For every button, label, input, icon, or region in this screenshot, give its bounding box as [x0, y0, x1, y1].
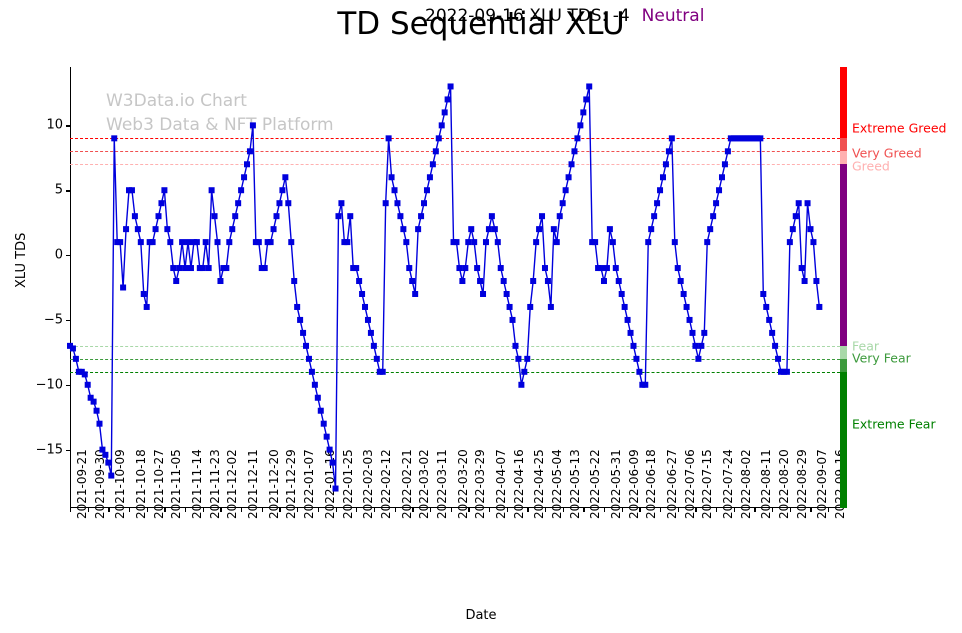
x-tick-mark — [810, 508, 811, 512]
zone-color-bar — [840, 67, 847, 508]
zone-label-extreme-greed: Extreme Greed — [852, 120, 946, 135]
x-tick-mark — [147, 508, 148, 512]
x-tick-mark — [395, 508, 396, 512]
zone-band-very-greed — [840, 138, 847, 151]
x-tick-mark — [129, 508, 130, 512]
zone-label-very-fear: Very Fear — [852, 350, 911, 365]
x-tick-mark — [279, 508, 280, 512]
x-tick-mark — [716, 508, 717, 512]
status-date-value: 2022-09-16 XLU TDS: -4 — [425, 6, 630, 26]
x-tick-mark — [828, 508, 829, 512]
status-annotation: 2022-09-16 XLU TDS: -4Neutral — [425, 6, 704, 26]
x-tick-mark — [489, 508, 490, 512]
x-tick-mark — [318, 508, 319, 512]
x-tick-mark — [70, 508, 71, 512]
zone-band-neutral — [840, 164, 847, 346]
x-tick-mark — [164, 508, 165, 512]
zone-band-extreme-fear — [840, 372, 847, 508]
zone-band-fear — [840, 346, 847, 359]
plot-area: W3Data.io Chart Web3 Data & NFT Platform… — [70, 67, 840, 508]
x-tick-mark — [622, 508, 623, 512]
x-tick-mark — [430, 508, 431, 512]
y-tick-label: 0 — [55, 248, 63, 263]
data-series-tds — [70, 67, 840, 508]
x-tick-mark — [412, 508, 413, 512]
x-tick-mark — [241, 508, 242, 512]
y-tick-label: −5 — [44, 312, 63, 327]
x-tick-mark — [262, 508, 263, 512]
x-tick-mark — [297, 508, 298, 512]
x-tick-mark — [754, 508, 755, 512]
x-tick-mark — [695, 508, 696, 512]
x-tick-mark — [356, 508, 357, 512]
y-tick-label: 10 — [46, 118, 63, 133]
x-tick-mark — [678, 508, 679, 512]
zone-band-greed — [840, 151, 847, 164]
x-tick-mark — [108, 508, 109, 512]
zone-label-greed: Greed — [852, 158, 890, 173]
x-tick-mark — [545, 508, 546, 512]
x-tick-mark — [507, 508, 508, 512]
x-tick-mark — [203, 508, 204, 512]
x-tick-mark — [660, 508, 661, 512]
x-tick-mark — [772, 508, 773, 512]
y-tick-label: −15 — [36, 442, 63, 457]
chart-root: TD Sequential XLU 2022-09-16 XLU TDS: -4… — [0, 0, 962, 633]
zone-band-very-fear — [840, 359, 847, 372]
x-tick-mark — [563, 508, 564, 512]
x-tick-mark — [185, 508, 186, 512]
x-tick-mark — [790, 508, 791, 512]
x-axis-title: Date — [0, 608, 962, 623]
x-tick-mark — [451, 508, 452, 512]
y-tick-label: 5 — [55, 183, 63, 198]
zone-label-extreme-fear: Extreme Fear — [852, 416, 936, 431]
x-tick-mark — [336, 508, 337, 512]
x-tick-mark — [639, 508, 640, 512]
x-tick-mark — [604, 508, 605, 512]
zone-band-extreme-greed — [840, 67, 847, 138]
status-zone-badge: Neutral — [642, 6, 705, 26]
y-axis-title: XLU TDS — [14, 233, 29, 288]
x-tick-mark — [734, 508, 735, 512]
x-tick-mark — [88, 508, 89, 512]
y-tick-label: −10 — [36, 377, 63, 392]
x-tick-mark — [583, 508, 584, 512]
x-tick-mark — [527, 508, 528, 512]
x-tick-mark — [220, 508, 221, 512]
x-tick-mark — [374, 508, 375, 512]
x-tick-mark — [468, 508, 469, 512]
